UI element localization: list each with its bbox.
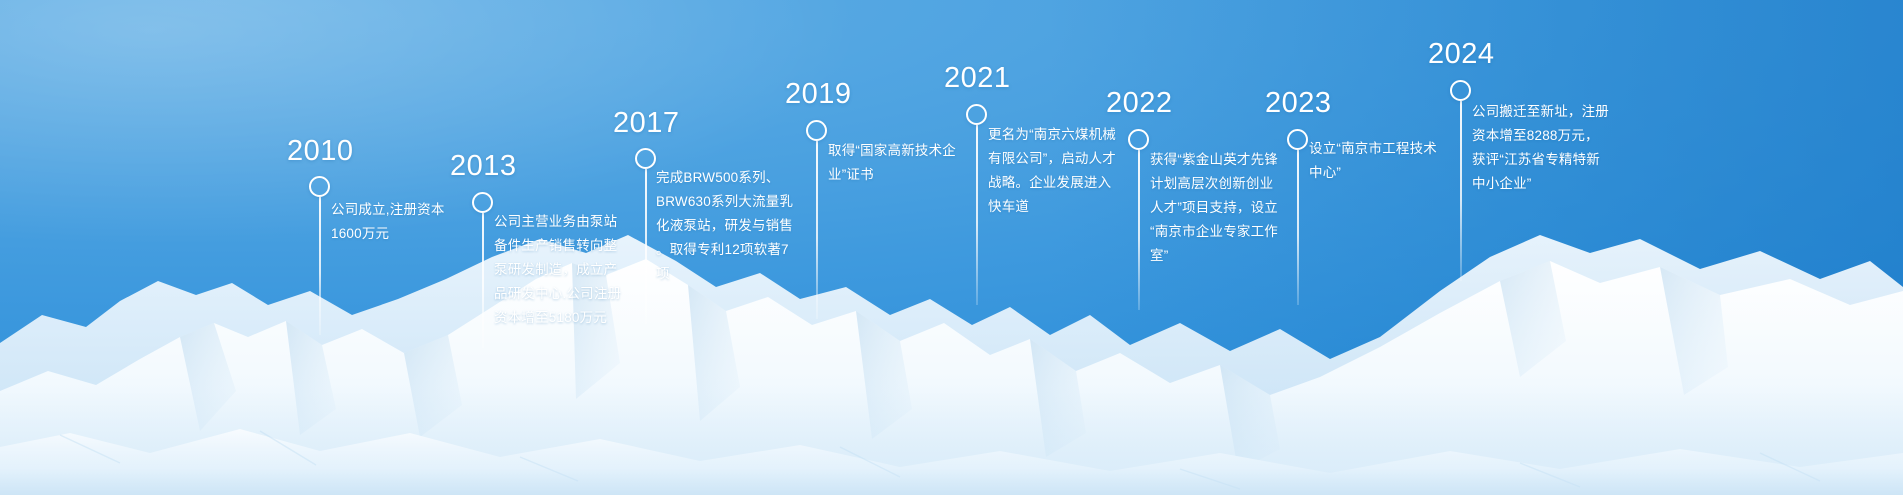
timeline-node-marker-icon[interactable] [1128,129,1149,150]
timeline-track: 2010公司成立,注册资本1600万元2013公司主营业务由泵站备件生产销售转向… [0,0,1903,495]
timeline-node-marker-icon[interactable] [806,120,827,141]
timeline-stem-line [482,213,484,348]
timeline-node-marker-icon[interactable] [635,148,656,169]
timeline-year-label: 2022 [1106,87,1173,120]
timeline-node-marker-icon[interactable] [1450,80,1471,101]
timeline-stem-line [976,125,978,305]
timeline-stem-line [1460,101,1462,281]
timeline-year-label: 2023 [1265,87,1332,120]
timeline-year-label: 2010 [287,135,354,168]
timeline-node-marker-icon[interactable] [966,104,987,125]
timeline-year-label: 2017 [613,107,680,140]
timeline-event-description: 公司成立,注册资本1600万元 [331,198,471,246]
timeline-event-description: 获得“紫金山英才先锋计划高层次创新创业人才”项目支持，设立“南京市企业专家工作室… [1150,148,1283,268]
timeline-event-description: 公司搬迁至新址，注册资本增至8288万元，获评“江苏省专精特新中小企业” [1472,100,1610,196]
timeline-year-label: 2024 [1428,38,1495,71]
timeline-event-description: 取得“国家高新技术企业”证书 [828,139,966,187]
timeline-stem-line [1138,150,1140,310]
timeline-year-label: 2021 [944,62,1011,95]
timeline-event-description: 设立“南京市工程技术中心” [1309,137,1445,185]
timeline-infographic: 2010公司成立,注册资本1600万元2013公司主营业务由泵站备件生产销售转向… [0,0,1903,495]
timeline-node-marker-icon[interactable] [309,176,330,197]
timeline-stem-line [1297,150,1299,305]
timeline-event-description: 更名为“南京六煤机械有限公司”，启动人才战略。企业发展进入快车道 [988,123,1124,219]
timeline-node-marker-icon[interactable] [1287,129,1308,150]
timeline-stem-line [645,169,647,324]
timeline-stem-line [816,141,818,319]
timeline-year-label: 2019 [785,78,852,111]
timeline-stem-line [319,197,321,335]
timeline-event-description: 公司主营业务由泵站备件生产销售转向整泵研发制造，成立产品研发中心.公司注册资本增… [494,210,627,330]
timeline-event-description: 完成BRW500系列、BRW630系列大流量乳化液泵站，研发与销售 。取得专利1… [656,166,794,286]
timeline-year-label: 2013 [450,150,517,183]
timeline-node-marker-icon[interactable] [472,192,493,213]
